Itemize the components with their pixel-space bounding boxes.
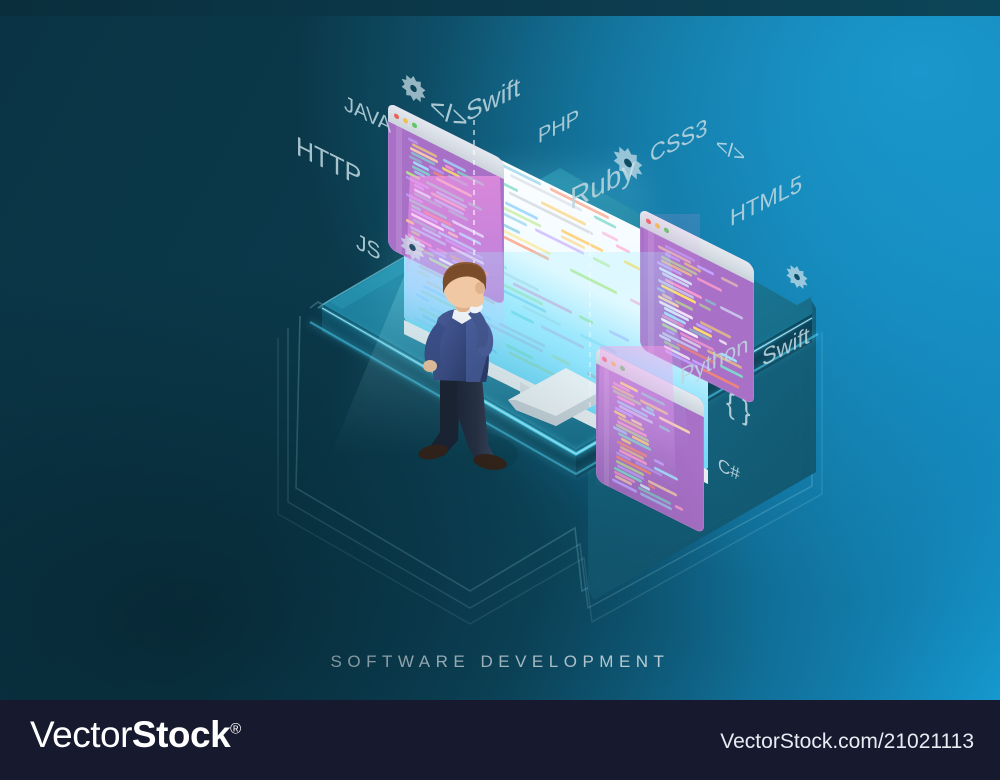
csharp-label: C# xyxy=(718,454,740,486)
page-title: SOFTWARE DEVELOPMENT xyxy=(0,652,1000,672)
gear-icon xyxy=(786,261,808,294)
vectorstock-logo[interactable]: VectorStock® xyxy=(30,716,241,753)
code-tag-icon: </> xyxy=(430,88,468,140)
gear-icon xyxy=(401,70,426,107)
gear-icon xyxy=(613,141,643,185)
gear-icon xyxy=(400,229,425,266)
screenshot-root: JAVAHTTPSwiftPHPRubyCSS3HTML5PythonSwift… xyxy=(0,0,1000,780)
logo-text-vector: Vector xyxy=(30,714,132,755)
logo-text-stock: Stock xyxy=(132,714,230,755)
decorative-glyph-layer: </></>{ }C# xyxy=(0,16,1000,700)
top-gradient-strip xyxy=(0,0,1000,16)
registered-mark-icon: ® xyxy=(230,721,241,738)
illustration-canvas: JAVAHTTPSwiftPHPRubyCSS3HTML5PythonSwift… xyxy=(0,16,1000,700)
code-tag-icon: </> xyxy=(716,132,745,171)
curly-braces-icon: { } xyxy=(726,385,751,430)
vectorstock-url[interactable]: VectorStock.com/21021113 xyxy=(720,730,974,754)
